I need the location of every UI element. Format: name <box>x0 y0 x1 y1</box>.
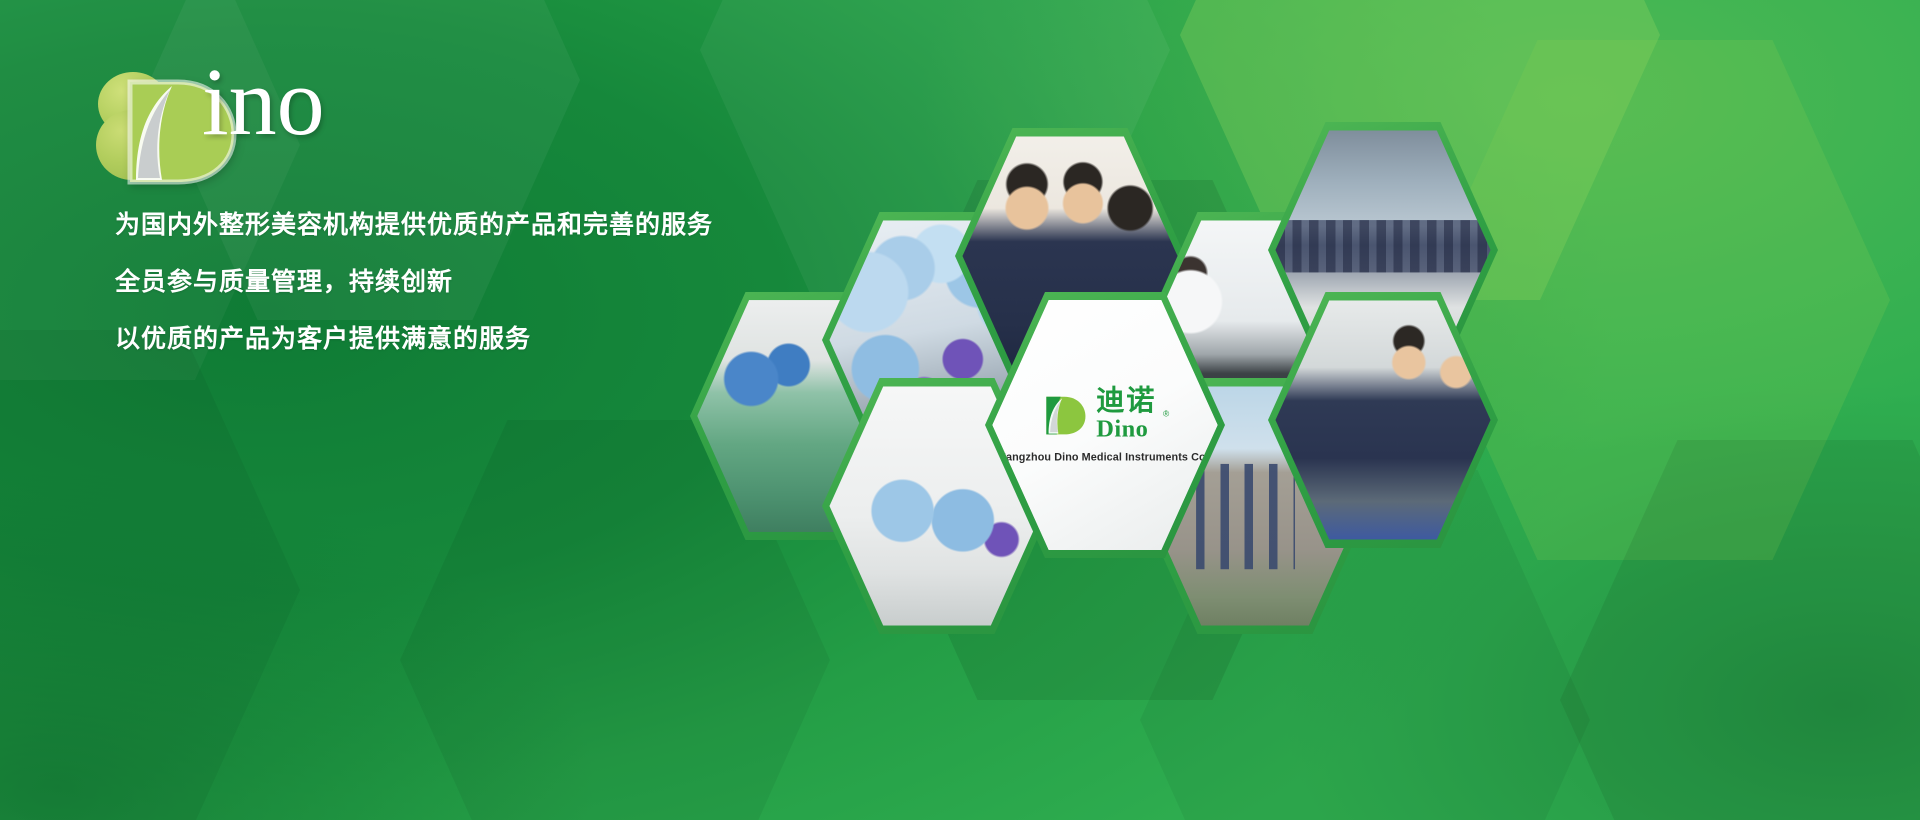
logo-brand-text: 迪诺 Dino <box>1096 387 1156 441</box>
dino-d-icon-small <box>1041 389 1090 438</box>
company-name-label: Hangzhou Dino Medical Instruments Co.. <box>998 452 1212 463</box>
logo-hexagon-card: 迪诺 Dino ® Hangzhou Dino Medical Instrume… <box>992 300 1218 550</box>
cnc-workstation-image <box>1275 300 1490 539</box>
logo-mark-row: 迪诺 Dino ® <box>1041 387 1169 441</box>
slogan-list: 为国内外整形美容机构提供优质的产品和完善的服务 全员参与质量管理，持续创新 以优… <box>115 212 713 383</box>
slogan-line-1: 为国内外整形美容机构提供优质的产品和完善的服务 <box>115 212 713 237</box>
logo-brand-en: Dino <box>1096 416 1156 440</box>
company-banner: ino 为国内外整形美容机构提供优质的产品和完善的服务 全员参与质量管理，持续创… <box>0 0 1920 820</box>
slogan-line-3: 以优质的产品为客户提供满意的服务 <box>115 326 713 351</box>
slogan-line-2: 全员参与质量管理，持续创新 <box>115 269 713 294</box>
brand-logo: ino <box>90 62 420 172</box>
registered-mark-icon: ® <box>1163 409 1169 418</box>
brand-wordmark: ino <box>202 54 325 150</box>
logo-brand-cn: 迪诺 <box>1096 387 1156 415</box>
